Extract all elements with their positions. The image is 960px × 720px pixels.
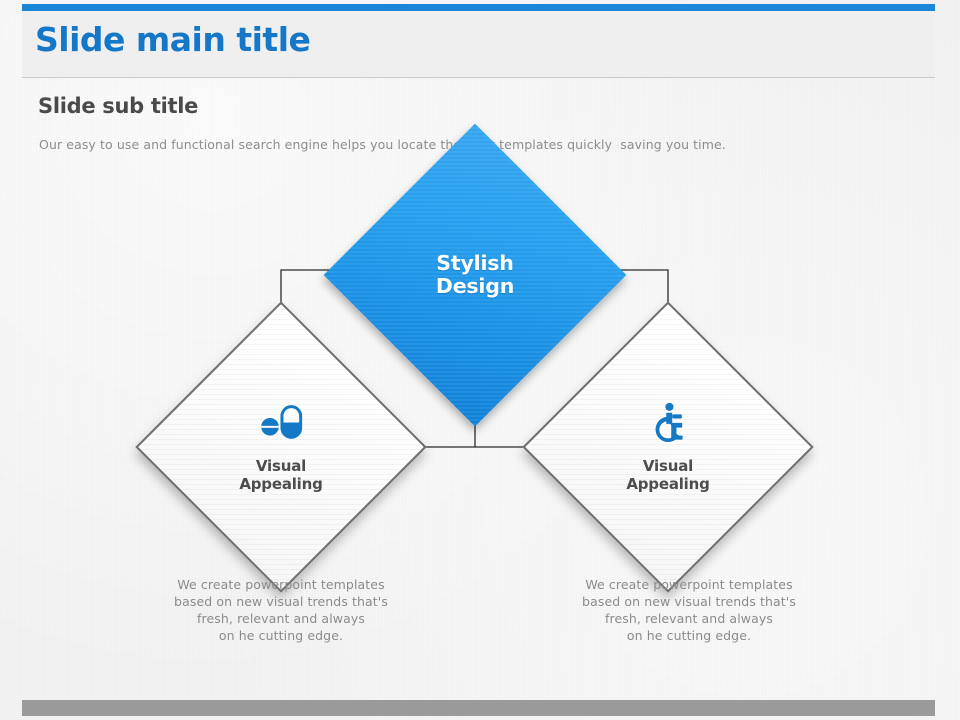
diamond-center-label-line2: Design [436, 275, 514, 298]
diamond-node-right[interactable]: Visual Appealing [565, 344, 771, 550]
diamond-right-label-line1: Visual [626, 458, 709, 476]
diamond-left-label-line1: Visual [239, 458, 322, 476]
footer-bar [22, 700, 935, 716]
diamond-left-label: Visual Appealing [239, 458, 322, 493]
diamond-node-left[interactable]: Visual Appealing [178, 344, 384, 550]
diamond-center-label-line1: Stylish [436, 252, 514, 275]
diamond-node-center[interactable]: Stylish Design [368, 168, 582, 382]
wheelchair-accessibility-icon [645, 400, 691, 444]
slide-canvas: Slide main title Slide sub title Our eas… [0, 0, 960, 720]
diamond-center-label: Stylish Design [436, 252, 514, 298]
caption-left: We create powerpoint templates based on … [131, 577, 431, 645]
diamond-right-label-line2: Appealing [626, 476, 709, 494]
caption-right: We create powerpoint templates based on … [539, 577, 839, 645]
diamond-right-label: Visual Appealing [626, 458, 709, 493]
diamond-left-label-line2: Appealing [239, 476, 322, 494]
pill-capsule-icon [258, 400, 304, 444]
